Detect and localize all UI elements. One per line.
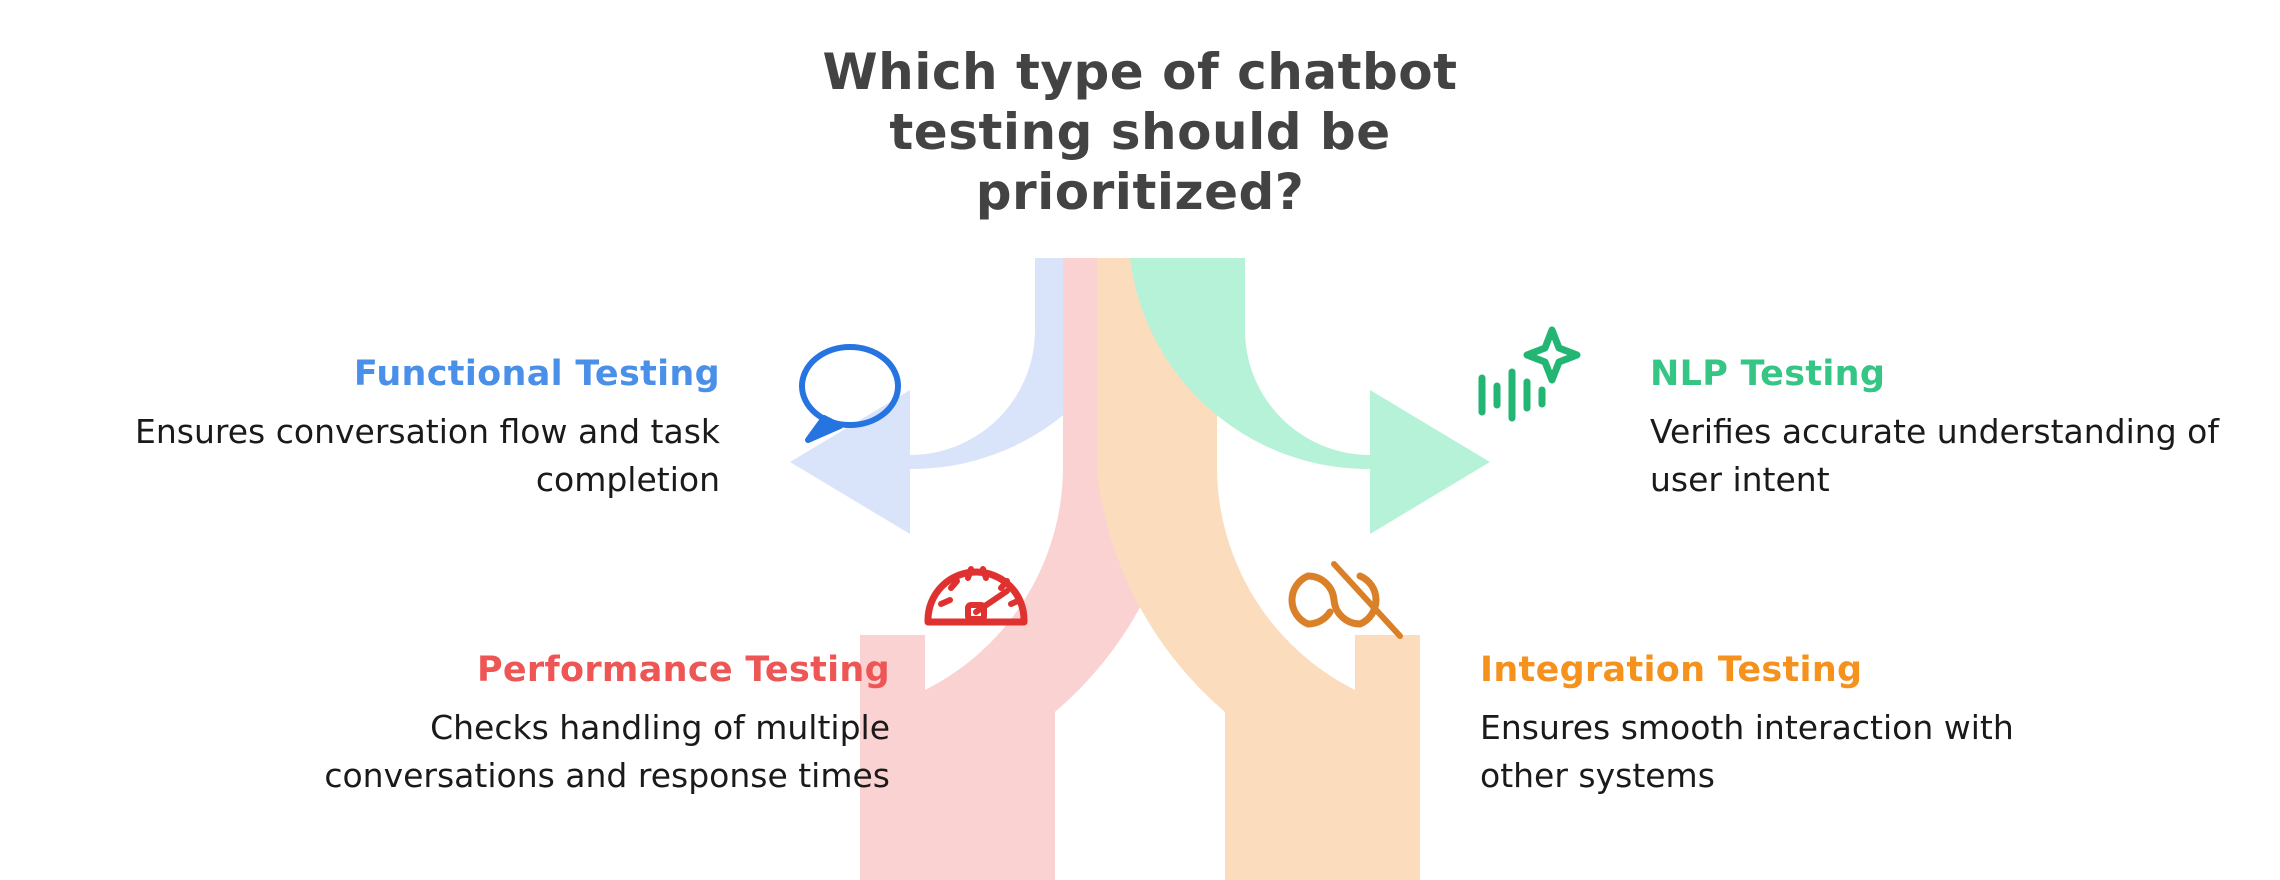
page-title: Which type of chatbot testing should be …: [740, 42, 1540, 222]
section-integration-testing-body: Ensures smooth interaction with other sy…: [1480, 704, 2100, 800]
section-integration-testing: Integration Testing Ensures smooth inter…: [1480, 648, 2100, 800]
infographic-canvas: Which type of chatbot testing should be …: [0, 0, 2280, 880]
arrow-integration-orange-shape: [1097, 258, 1420, 880]
arrow-functional-blue: [790, 258, 1150, 534]
broken-link-icon: [1292, 564, 1400, 636]
page-title-line-1: Which type of chatbot: [740, 42, 1540, 102]
section-performance-testing-body: Checks handling of multiple conversation…: [230, 704, 890, 800]
section-functional-testing-heading: Functional Testing: [20, 352, 720, 396]
section-performance-testing: Performance Testing Checks handling of m…: [230, 648, 890, 800]
page-title-line-2: testing should be: [740, 102, 1540, 162]
section-nlp-testing-body: Verifies accurate understanding of user …: [1650, 408, 2260, 504]
section-integration-testing-heading: Integration Testing: [1480, 648, 2100, 692]
arrow-integration-orange: [1097, 258, 1420, 880]
section-functional-testing: Functional Testing Ensures conversation …: [20, 352, 720, 504]
section-functional-testing-body: Ensures conversation flow and task compl…: [20, 408, 720, 504]
arrow-nlp-green-shape: [1130, 258, 1490, 534]
voice-waveform-sparkle-icon: [1482, 330, 1577, 418]
section-nlp-testing-heading: NLP Testing: [1650, 352, 2260, 396]
arrow-nlp-green: [1130, 258, 1577, 534]
arrow-performance-pink-shape: [860, 258, 1183, 880]
section-performance-testing-heading: Performance Testing: [230, 648, 890, 692]
page-title-line-3: prioritized?: [740, 162, 1540, 222]
speech-bubble-icon: [802, 347, 898, 440]
arrow-performance-pink: [860, 258, 1183, 880]
speedometer-icon: [928, 569, 1024, 622]
section-nlp-testing: NLP Testing Verifies accurate understand…: [1650, 352, 2260, 504]
arrow-functional-blue-shape: [790, 258, 1150, 534]
